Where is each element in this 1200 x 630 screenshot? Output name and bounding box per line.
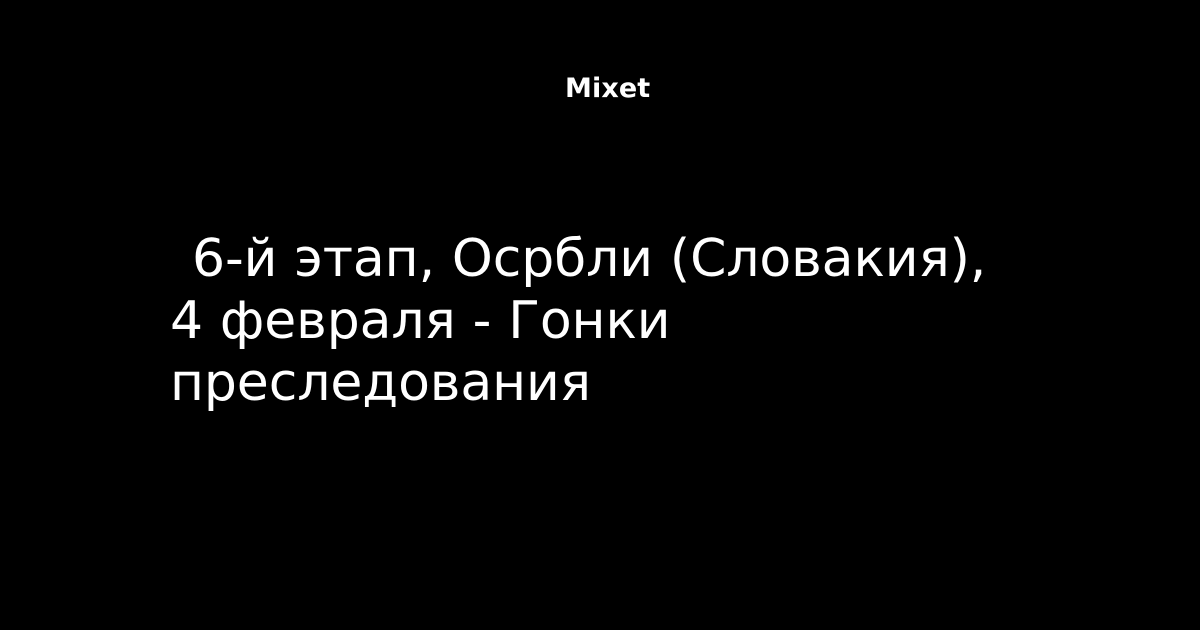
site-wordmark[interactable]: Mixet (565, 72, 650, 106)
preview-card: Mixet 6-й этап, Осрбли (Словакия), 4 фев… (0, 0, 1200, 630)
page-title: 6-й этап, Осрбли (Словакия), 4 февраля -… (170, 228, 1036, 414)
headline-container: 6-й этап, Осрбли (Словакия), 4 февраля -… (170, 228, 1036, 414)
